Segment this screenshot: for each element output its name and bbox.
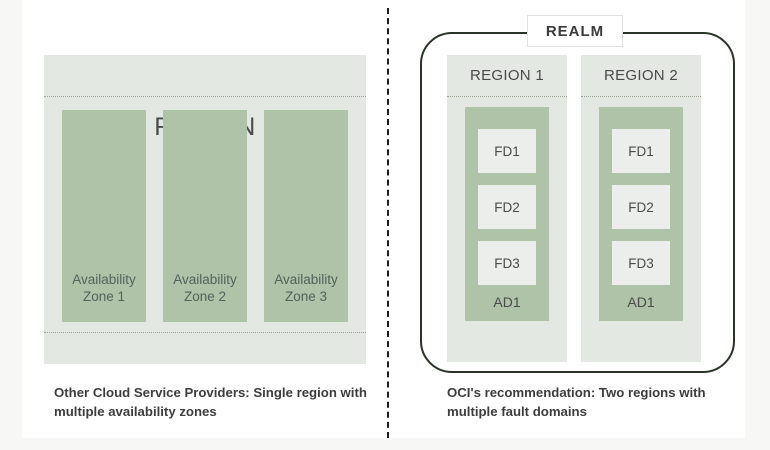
fault-domain-3-region-1: FD3 (478, 241, 536, 285)
availability-zone-1-line2: Zone 1 (83, 289, 125, 304)
availability-domain-region-1: FD1 FD2 FD3 AD1 (465, 107, 549, 321)
diagram-canvas: REGION Availability Zone 1 Availability … (0, 0, 770, 450)
availability-zone-2-label: Availability Zone 2 (163, 272, 247, 306)
right-panel-caption: OCI's recommendation: Two regions with m… (447, 383, 747, 421)
panel-divider (387, 8, 389, 438)
realm-label: REALM (527, 15, 623, 47)
realm-region-2-title: REGION 2 (581, 67, 701, 84)
availability-zone-2-line2: Zone 2 (184, 289, 226, 304)
availability-zone-1-line1: Availability (72, 272, 136, 287)
left-region-divider-bottom (44, 332, 366, 333)
fault-domain-2-region-1: FD2 (478, 185, 536, 229)
left-region-divider-top (44, 96, 366, 97)
fault-domain-1-region-1: FD1 (478, 129, 536, 173)
availability-zone-2-line1: Availability (173, 272, 237, 287)
availability-zone-1-label: Availability Zone 1 (62, 272, 146, 306)
availability-zone-3: Availability Zone 3 (264, 110, 348, 322)
availability-zone-2: Availability Zone 2 (163, 110, 247, 322)
availability-zone-1: Availability Zone 1 (62, 110, 146, 322)
realm-region-2-divider (581, 96, 701, 97)
availability-zone-3-line2: Zone 3 (285, 289, 327, 304)
fault-domain-1-region-2: FD1 (612, 129, 670, 173)
availability-zone-3-label: Availability Zone 3 (264, 272, 348, 306)
left-panel-caption: Other Cloud Service Providers: Single re… (54, 383, 384, 421)
fault-domain-2-region-2: FD2 (612, 185, 670, 229)
realm-region-1-divider (447, 96, 567, 97)
realm-region-1-title: REGION 1 (447, 67, 567, 84)
availability-zone-3-line1: Availability (274, 272, 338, 287)
availability-domain-region-1-label: AD1 (465, 294, 549, 310)
fault-domain-3-region-2: FD3 (612, 241, 670, 285)
availability-domain-region-2-label: AD1 (599, 294, 683, 310)
availability-domain-region-2: FD1 FD2 FD3 AD1 (599, 107, 683, 321)
